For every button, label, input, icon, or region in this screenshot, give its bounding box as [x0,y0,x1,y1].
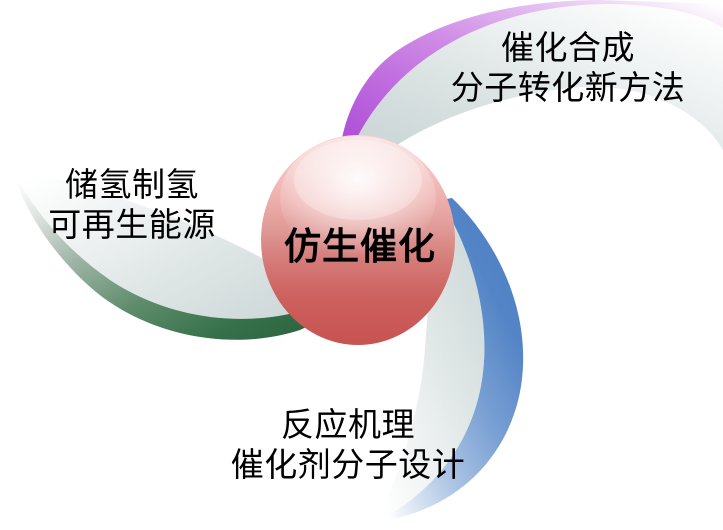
branch-label-line: 反应机理 [178,405,518,445]
branch-label-catalytic-synthesis: 催化合成 分子转化新方法 [418,28,718,109]
branch-label-line: 可再生能源 [8,205,256,245]
branch-label-reaction-mechanism: 反应机理 催化剂分子设计 [178,405,518,486]
diagram-canvas: 催化合成 分子转化新方法 储氢制氢 可再生能源 反应机理 催化剂分子设计 仿生催… [0,0,723,530]
center-sphere-label: 仿生催化 [262,216,458,270]
branch-label-line: 储氢制氢 [8,165,256,205]
branch-label-hydrogen-energy: 储氢制氢 可再生能源 [8,165,256,246]
branch-label-line: 催化合成 [418,28,718,68]
branch-label-line: 分子转化新方法 [418,68,718,108]
branch-label-line: 催化剂分子设计 [178,445,518,485]
